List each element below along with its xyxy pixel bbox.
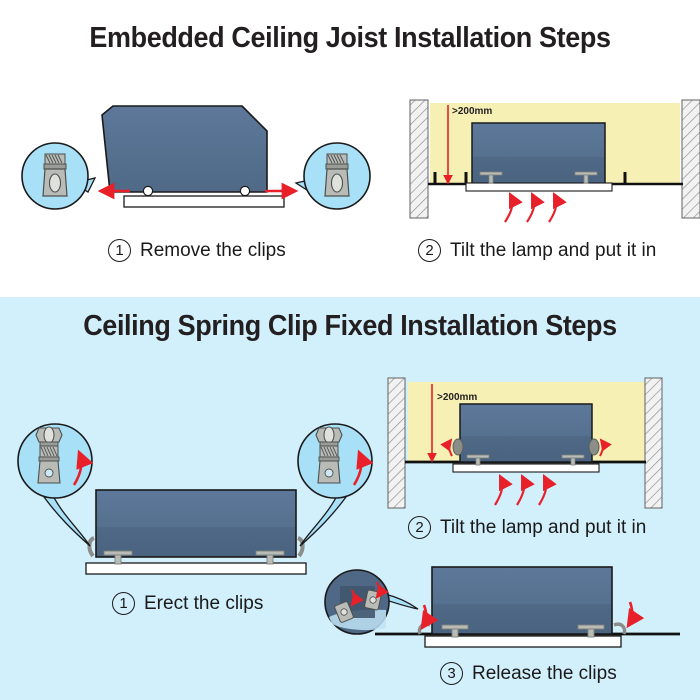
step-label: Release the clips [472, 663, 617, 685]
step-number-badge: 1 [112, 592, 135, 615]
step-number-badge: 2 [408, 516, 431, 539]
dimension-label-top: >200mm [452, 106, 492, 117]
step-label: Tilt the lamp and put it in [440, 517, 646, 539]
step-label: Tilt the lamp and put it in [450, 240, 656, 262]
step-caption-tilt-lamp-bottom: 2 Tilt the lamp and put it in [408, 516, 646, 539]
step-number-badge: 3 [440, 662, 463, 685]
section-ceiling-spring-clip-band [0, 297, 700, 700]
dimension-label-bottom: >200mm [437, 392, 477, 403]
step-label: Remove the clips [140, 240, 286, 262]
step-caption-tilt-lamp-top: 2 Tilt the lamp and put it in [418, 239, 656, 262]
step-caption-release-clips: 3 Release the clips [440, 662, 617, 685]
step-caption-erect-clips: 1 Erect the clips [112, 592, 263, 615]
installation-instruction-sheet: Embedded Ceiling Joist Installation Step… [0, 0, 700, 700]
section-title-spring-clip: Ceiling Spring Clip Fixed Installation S… [25, 310, 676, 343]
step-label: Erect the clips [144, 593, 263, 615]
step-caption-remove-clips: 1 Remove the clips [108, 239, 286, 262]
step-number-badge: 2 [418, 239, 441, 262]
step-number-badge: 1 [108, 239, 131, 262]
section-title-embedded: Embedded Ceiling Joist Installation Step… [25, 22, 676, 55]
